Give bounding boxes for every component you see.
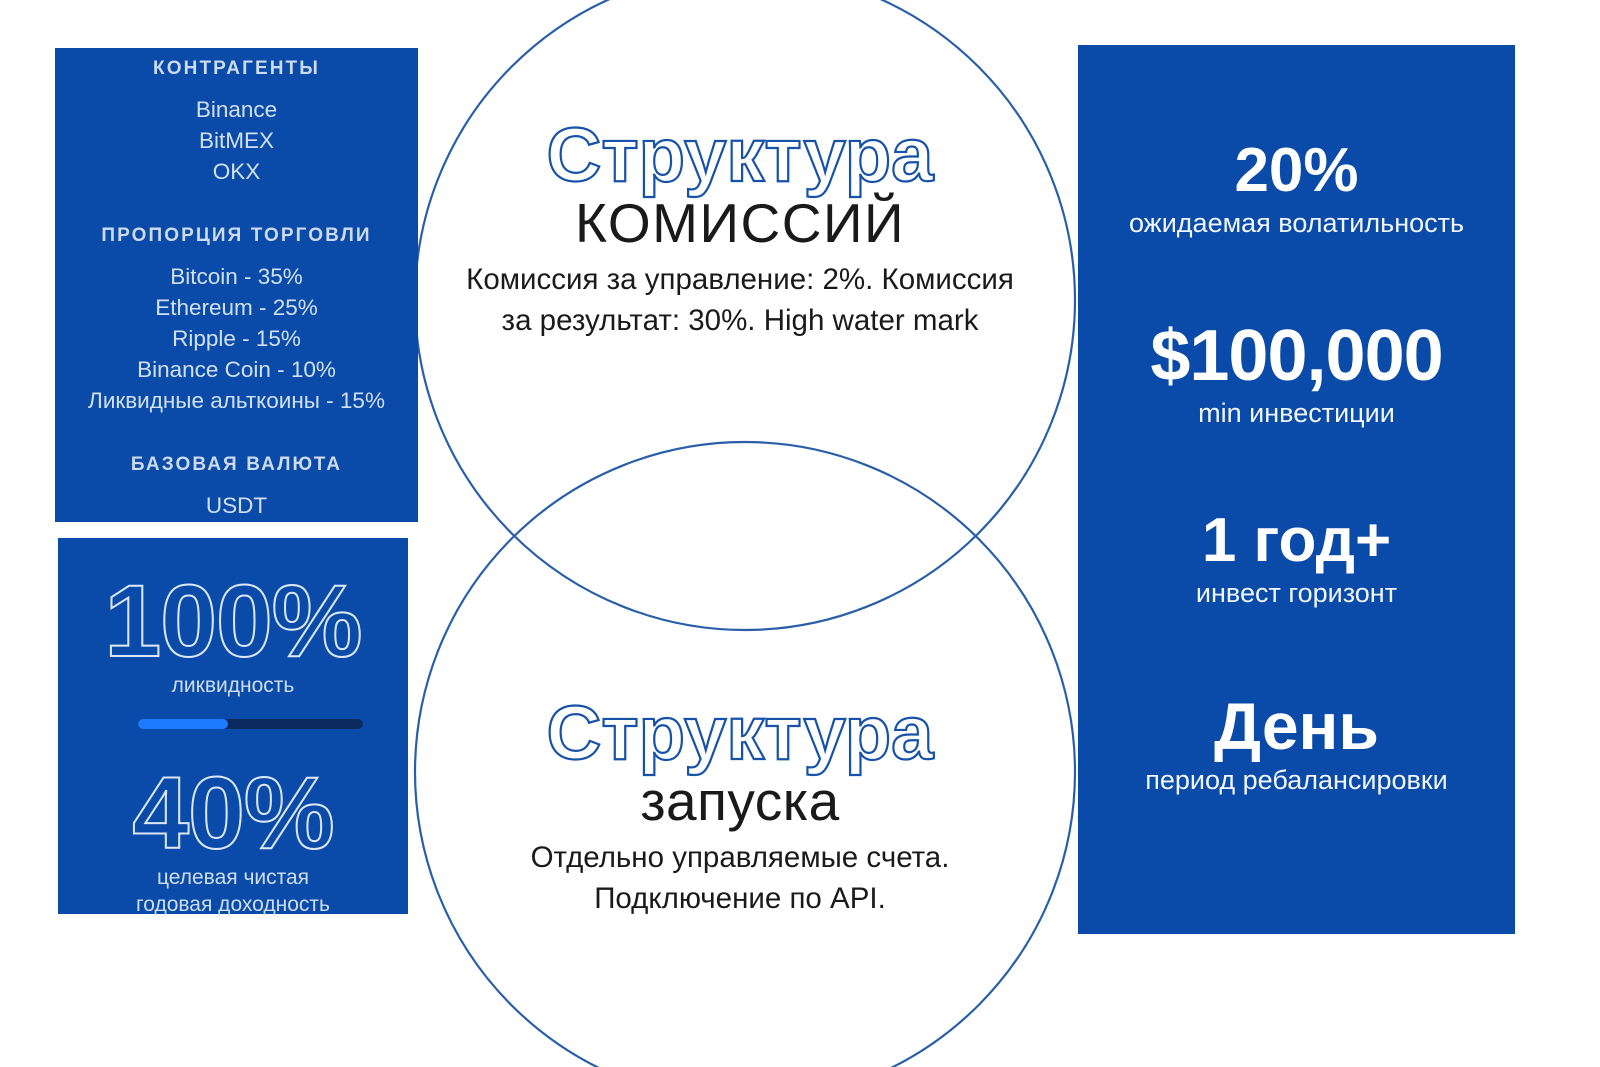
- stat-value: 20%: [1078, 140, 1515, 202]
- stat-value: 1 год+: [1078, 510, 1515, 572]
- launch-structure-title-outline: Структура: [420, 696, 1060, 772]
- key-facts-panel: 20% ожидаемая волатильность $100,000 min…: [1078, 45, 1515, 934]
- liquidity-progress-bar[interactable]: [138, 719, 363, 729]
- spacer: [55, 416, 418, 454]
- metrics-card: 100% ликвидность 40% целевая чистая годо…: [58, 538, 408, 914]
- liquidity-progress-fill: [138, 719, 228, 729]
- fee-structure-block: Структура КОМИССИЙ Комиссия за управлени…: [420, 118, 1060, 341]
- fee-structure-title-outline: Структура: [420, 118, 1060, 194]
- launch-structure-title-solid: запуска: [420, 772, 1060, 831]
- stat-investment-horizon: 1 год+ инвест горизонт: [1078, 510, 1515, 609]
- liquidity-metric: 100% ликвидность: [58, 570, 408, 699]
- launch-structure-body: Отдельно управляемые счета. Подключение …: [460, 837, 1020, 919]
- section-heading-trading-proportion: ПРОПОРЦИЯ ТОРГОВЛИ: [55, 225, 418, 247]
- stat-value: День: [1078, 693, 1515, 759]
- slide-canvas: КОНТРАГЕНТЫ Binance BitMEX OKX ПРОПОРЦИЯ…: [0, 0, 1600, 1067]
- section-heading-base-currency: БАЗОВАЯ ВАЛЮТА: [55, 454, 418, 476]
- liquidity-value: 100%: [58, 570, 408, 672]
- allocation-item: Binance Coin - 10%: [55, 354, 418, 385]
- stat-label: ожидаемая волатильность: [1078, 208, 1515, 239]
- allocation-item: Ликвидные альткоины - 15%: [55, 385, 418, 416]
- allocation-item: Ethereum - 25%: [55, 292, 418, 323]
- counterparties-card: КОНТРАГЕНТЫ Binance BitMEX OKX ПРОПОРЦИЯ…: [55, 48, 418, 522]
- section-heading-counterparties: КОНТРАГЕНТЫ: [55, 58, 418, 80]
- base-currency-item: USDT: [55, 490, 418, 521]
- target-return-caption-line2: годовая доходность: [58, 891, 408, 918]
- spacer: [55, 476, 418, 490]
- spacer: [55, 247, 418, 261]
- allocation-item: Ripple - 15%: [55, 323, 418, 354]
- target-return-metric: 40% целевая чистая годовая доходность: [58, 762, 408, 918]
- stat-rebalancing-period: День период ребалансировки: [1078, 693, 1515, 796]
- stat-expected-volatility: 20% ожидаемая волатильность: [1078, 140, 1515, 239]
- fee-structure-title-solid: КОМИССИЙ: [420, 194, 1060, 253]
- counterparty-item: OKX: [55, 156, 418, 187]
- stat-value: $100,000: [1078, 320, 1515, 392]
- stat-label: min инвестиции: [1078, 398, 1515, 429]
- target-return-value: 40%: [58, 762, 408, 864]
- stat-label: инвест горизонт: [1078, 578, 1515, 609]
- allocation-item: Bitcoin - 35%: [55, 261, 418, 292]
- target-return-caption-line1: целевая чистая: [58, 864, 408, 891]
- counterparty-item: BitMEX: [55, 125, 418, 156]
- launch-structure-block: Структура запуска Отдельно управляемые с…: [420, 696, 1060, 919]
- stat-label: период ребалансировки: [1078, 765, 1515, 796]
- spacer: [55, 80, 418, 94]
- fee-structure-body: Комиссия за управление: 2%. Комиссия за …: [460, 259, 1020, 341]
- spacer: [55, 187, 418, 225]
- stat-min-investment: $100,000 min инвестиции: [1078, 320, 1515, 429]
- counterparty-item: Binance: [55, 94, 418, 125]
